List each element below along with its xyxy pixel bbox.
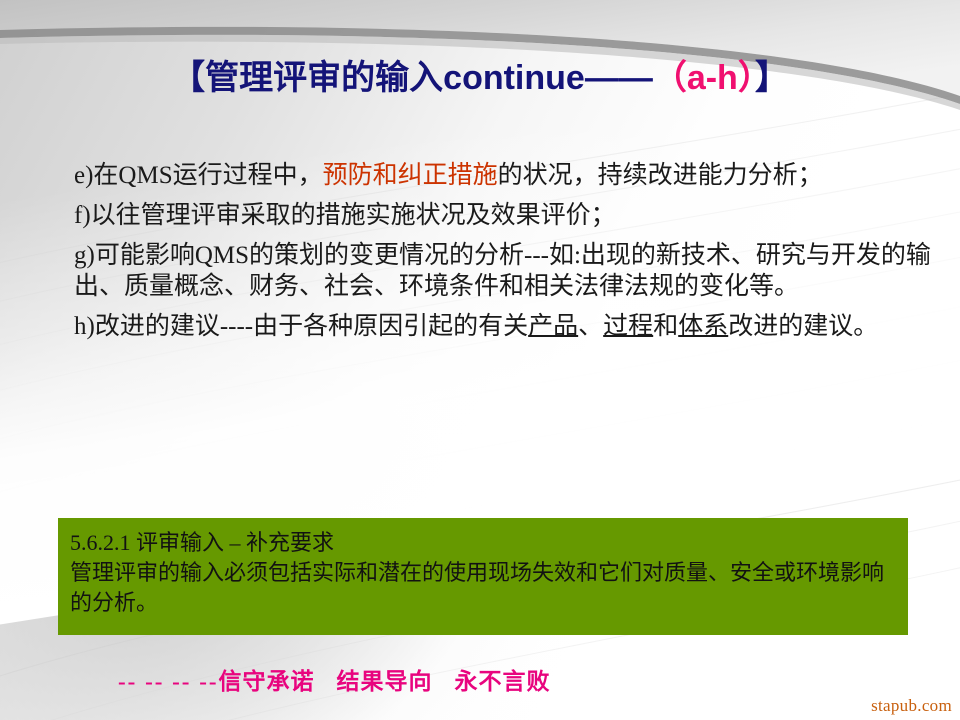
- list-item-g: g)可能影响QMS的策划的变更情况的分析---如:出现的新技术、研究与开发的输出…: [74, 240, 934, 302]
- item-h-mid: 和: [653, 313, 678, 340]
- list-item-h: h)改进的建议----由于各种原因引起的有关产品、过程和体系改进的建议。: [74, 311, 934, 342]
- item-h-tail: 改进的建议。: [728, 313, 878, 340]
- item-e-highlight: 预防和纠正措施: [323, 162, 498, 189]
- footer-dashes: -- -- -- --: [118, 669, 219, 694]
- item-h-underline-process: 过程: [603, 313, 653, 340]
- item-h-underline-system: 体系: [678, 313, 728, 340]
- callout-box: 5.6.2.1 评审输入 – 补充要求 管理评审的输入必须包括实际和潜在的使用现…: [58, 518, 908, 635]
- item-h-lead: h)改进的建议----由于各种原因引起的有关: [74, 313, 528, 340]
- footer-phrase-2: 结果导向: [337, 669, 433, 694]
- slide-title: 【管理评审的输入continue——（a-h）】: [0, 56, 960, 100]
- title-prefix: 【管理评审的输入continue——: [171, 59, 653, 97]
- item-e-tail: 的状况，持续改进能力分析；: [498, 162, 823, 189]
- footer-slogan: -- -- -- --信守承诺结果导向永不言败: [118, 668, 551, 696]
- callout-body: 管理评审的输入必须包括实际和潜在的使用现场失效和它们对质量、安全或环境影响的分析…: [70, 558, 902, 618]
- list-item-f: f)以往管理评审采取的措施实施状况及效果评价；: [74, 200, 934, 231]
- item-h-underline-product: 产品: [528, 313, 578, 340]
- watermark: stapub.com: [871, 696, 952, 716]
- item-e-lead: e)在QMS运行过程中，: [74, 162, 323, 189]
- footer-phrase-3: 永不言败: [455, 669, 551, 694]
- item-f-text: f)以往管理评审采取的措施实施状况及效果评价；: [74, 202, 616, 229]
- callout-heading: 5.6.2.1 评审输入 – 补充要求: [70, 528, 908, 558]
- content-list: e)在QMS运行过程中，预防和纠正措施的状况，持续改进能力分析； f)以往管理评…: [74, 160, 934, 351]
- footer-phrase-1: 信守承诺: [219, 669, 315, 694]
- list-item-e: e)在QMS运行过程中，预防和纠正措施的状况，持续改进能力分析；: [74, 160, 934, 191]
- item-h-sep: 、: [578, 313, 603, 340]
- item-g-text: g)可能影响QMS的策划的变更情况的分析---如:出现的新技术、研究与开发的输出…: [74, 242, 931, 300]
- title-suffix: 】: [755, 59, 789, 97]
- slide-canvas: 【管理评审的输入continue——（a-h）】 e)在QMS运行过程中，预防和…: [0, 0, 960, 720]
- title-range: （a-h）: [653, 59, 755, 97]
